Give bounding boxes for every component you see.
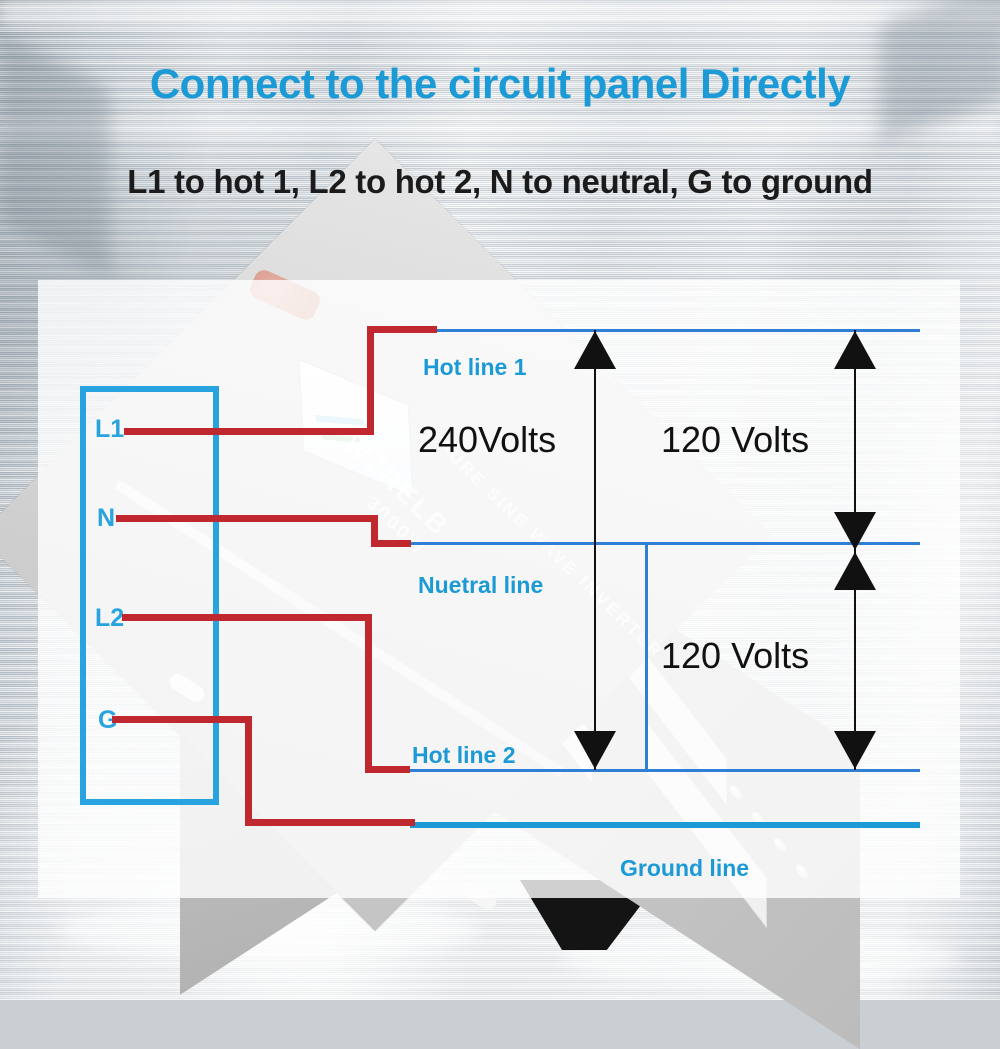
hot-line-2-bus (405, 769, 920, 772)
wire-g-segment-h (112, 716, 252, 723)
circuit-panel-terminal-block[interactable] (80, 386, 219, 805)
wire-l1-segment-top (367, 326, 437, 333)
wire-g-segment-v (245, 716, 252, 824)
line-label-hot-2: Hot line 2 (412, 742, 516, 769)
dimension-line-240v (594, 330, 596, 770)
arrow-head-down-120v-lower (834, 731, 876, 769)
arrow-head-down-120v-upper (834, 512, 876, 550)
arrow-head-up-240v (574, 331, 616, 369)
line-label-ground: Ground line (620, 855, 749, 882)
voltage-label-240v: 240Volts (418, 419, 556, 461)
voltage-label-120v-upper: 120 Volts (661, 419, 809, 461)
voltage-label-120v-lower: 120 Volts (661, 635, 809, 677)
arrow-head-down-240v (574, 731, 616, 769)
wire-g-segment-end (245, 819, 415, 826)
wire-l2-segment-h (122, 614, 372, 621)
terminal-label-l1: L1 (95, 417, 124, 442)
terminal-label-l2: L2 (95, 606, 124, 631)
wire-n-segment-h (116, 515, 378, 522)
line-label-neutral: Nuetral line (418, 572, 543, 599)
wire-l2-segment-end (365, 766, 410, 773)
arrow-head-up-120v-lower (834, 552, 876, 590)
wire-l1-segment-h (124, 428, 374, 435)
page-subtitle: L1 to hot 1, L2 to hot 2, N to neutral, … (0, 163, 1000, 201)
terminal-label-n: N (97, 506, 115, 531)
wire-n-segment-end (371, 540, 411, 547)
arrow-head-up-120v-upper (834, 331, 876, 369)
neutral-to-hot2-drop (645, 542, 648, 771)
ground-line-bus (410, 822, 920, 828)
line-label-hot-1: Hot line 1 (423, 354, 527, 381)
wire-l1-segment-v (367, 329, 374, 432)
page-title: Connect to the circuit panel Directly (0, 60, 1000, 108)
wiring-diagram: L1 N L2 G 240Volts 120 Volts 120 Volts H… (0, 0, 1000, 1000)
wire-l2-segment-v (365, 614, 372, 773)
